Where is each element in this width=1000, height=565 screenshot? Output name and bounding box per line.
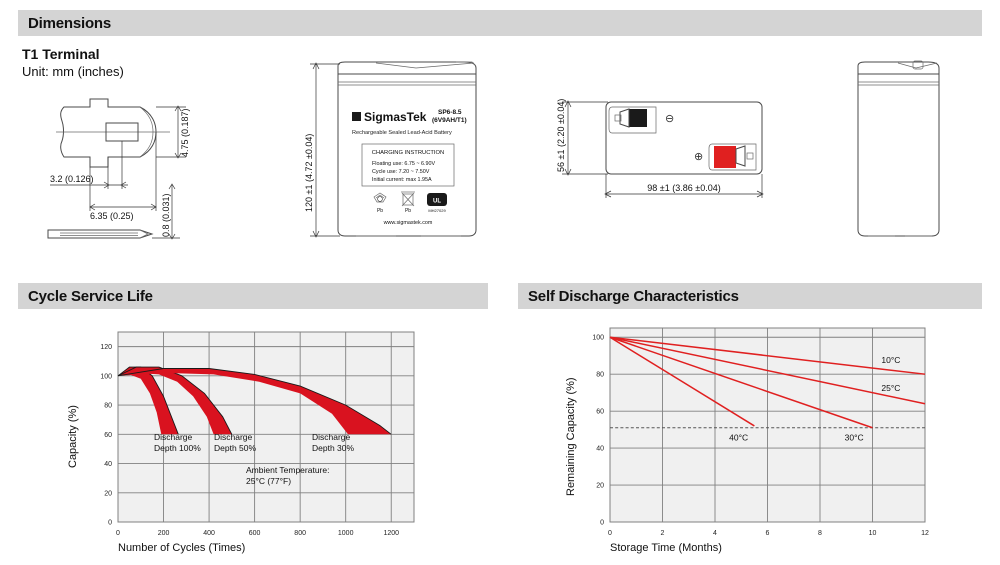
cycle-y-tick-120: 120 — [100, 344, 112, 351]
self-y-tick-40: 40 — [596, 446, 604, 453]
ul-mark-icon: UL MH27029 — [427, 193, 447, 213]
cycle-x-tick-600: 600 — [249, 530, 261, 537]
battery-front-view: 120 ±1 (4.72 ±0.04) SigmasTek SP6-8.5 (6… — [296, 52, 496, 252]
recycle-pb-icon: Pb — [374, 193, 386, 214]
self-x-tick-10: 10 — [869, 530, 877, 537]
section-title-self-discharge: Self Discharge Characteristics — [528, 288, 739, 305]
charging-title: CHARGING INSTRUCTION — [372, 150, 444, 156]
battery-front-height-dim: 120 ±1 (4.72 ±0.04) — [304, 134, 314, 212]
self-y-tick-80: 80 — [596, 372, 604, 379]
self-y-tick-100: 100 — [592, 335, 604, 342]
annotation-depth-30-line2: Depth 30% — [312, 443, 354, 453]
self-x-tick-2: 2 — [661, 530, 665, 537]
self-y-tick-0: 0 — [600, 520, 604, 527]
annotation-ambient-line1: Ambient Temperature: — [246, 465, 329, 475]
self-y-axis-label: Remaining Capacity (%) — [565, 377, 577, 496]
section-title-dimensions: Dimensions — [28, 15, 111, 32]
cycle-x-tick-800: 800 — [294, 530, 306, 537]
battery-top-height-dim: 56 ±1 (2.20 ±0.04) — [556, 99, 566, 172]
chart-self-discharge: 020406080100 024681012 10°C25°C30°C40°C … — [560, 318, 980, 558]
charging-line-0: Floating use: 6.75 ~ 6.90V — [372, 161, 435, 167]
self-series-label-40°C: 40°C — [729, 433, 748, 443]
self-y-tick-60: 60 — [596, 409, 604, 416]
cycle-y-tick-60: 60 — [104, 432, 112, 439]
positive-terminal-symbol: ⊕ — [694, 151, 703, 163]
battery-model-sub: (6V9AH/T1) — [432, 117, 467, 124]
svg-text:UL: UL — [433, 199, 441, 205]
bin-icon-label: Pb — [405, 208, 411, 214]
annotation-depth-50-line2: Depth 50% — [214, 443, 256, 453]
wheelie-bin-pb-icon: Pb — [401, 192, 415, 214]
callout-width-large: 6.35 (0.25) — [90, 211, 134, 221]
self-x-tick-4: 4 — [713, 530, 717, 537]
terminal-unit-label: Unit: mm (inches) — [22, 64, 124, 79]
annotation-ambient-line2: 25°C (77°F) — [246, 476, 291, 486]
self-x-tick-0: 0 — [608, 530, 612, 537]
annotation-depth-50-line1: Discharge — [214, 432, 253, 442]
cycle-x-tick-400: 400 — [203, 530, 215, 537]
battery-side-view — [820, 52, 980, 252]
section-title-cycle-service-life: Cycle Service Life — [28, 288, 153, 305]
self-x-tick-6: 6 — [766, 530, 770, 537]
charging-line-2: Initial current: max 1.95A — [372, 177, 432, 183]
annotation-depth-100-line1: Discharge — [154, 432, 193, 442]
callout-thickness: 0.8 (0.031) — [161, 193, 171, 237]
cycle-x-tick-1200: 1200 — [383, 530, 399, 537]
cycle-y-tick-80: 80 — [104, 403, 112, 410]
section-header-cycle-service-life: Cycle Service Life — [18, 283, 488, 309]
battery-top-width-dim: 98 ±1 (3.86 ±0.04) — [647, 183, 720, 193]
recycle-icon-label: Pb — [377, 208, 383, 214]
battery-website: www.sigmastek.com — [383, 220, 433, 226]
cycle-x-tick-200: 200 — [158, 530, 170, 537]
terminal-drawing: 4.75 (0.187) 3.2 (0.126) 6.35 (0.25) 0.8… — [20, 85, 210, 245]
cycle-y-tick-20: 20 — [104, 490, 112, 497]
self-series-label-30°C: 30°C — [845, 433, 864, 443]
cycle-y-tick-40: 40 — [104, 461, 112, 468]
cycle-x-tick-1000: 1000 — [338, 530, 354, 537]
annotation-depth-100-line2: Depth 100% — [154, 443, 201, 453]
cycle-y-tick-0: 0 — [108, 520, 112, 527]
self-x-tick-12: 12 — [921, 530, 929, 537]
negative-terminal-symbol: ⊖ — [665, 113, 674, 125]
self-x-axis-label: Storage Time (Months) — [610, 542, 722, 554]
cycle-x-axis-label: Number of Cycles (Times) — [118, 542, 245, 554]
section-header-self-discharge: Self Discharge Characteristics — [518, 283, 982, 309]
terminal-title: T1 Terminal — [22, 46, 100, 62]
battery-top-view: 56 ±1 (2.20 ±0.04) ⊖ ⊕ 98 ±1 (3.86 ±0.04… — [516, 60, 806, 220]
callout-width-small: 3.2 (0.126) — [50, 174, 94, 184]
ul-icon-label: MH27029 — [428, 208, 446, 213]
self-y-tick-20: 20 — [596, 483, 604, 490]
cycle-y-tick-100: 100 — [100, 373, 112, 380]
charging-line-1: Cycle use: 7.20 ~ 7.50V — [372, 169, 430, 175]
self-series-label-10°C: 10°C — [881, 355, 900, 365]
self-x-tick-8: 8 — [818, 530, 822, 537]
battery-brand: SigmasTek — [364, 110, 427, 124]
cycle-x-tick-0: 0 — [116, 530, 120, 537]
cycle-y-axis-label: Capacity (%) — [67, 405, 79, 468]
chart-cycle-service-life: 020406080100120 020040060080010001200 Ca… — [60, 318, 480, 558]
battery-model: SP6-8.5 — [438, 109, 462, 116]
annotation-depth-30-line1: Discharge — [312, 432, 351, 442]
self-series-label-25°C: 25°C — [881, 383, 900, 393]
battery-subtitle: Rechargeable Sealed Lead-Acid Battery — [352, 130, 452, 136]
callout-height: 4.75 (0.187) — [180, 108, 190, 157]
section-header-dimensions: Dimensions — [18, 10, 982, 36]
